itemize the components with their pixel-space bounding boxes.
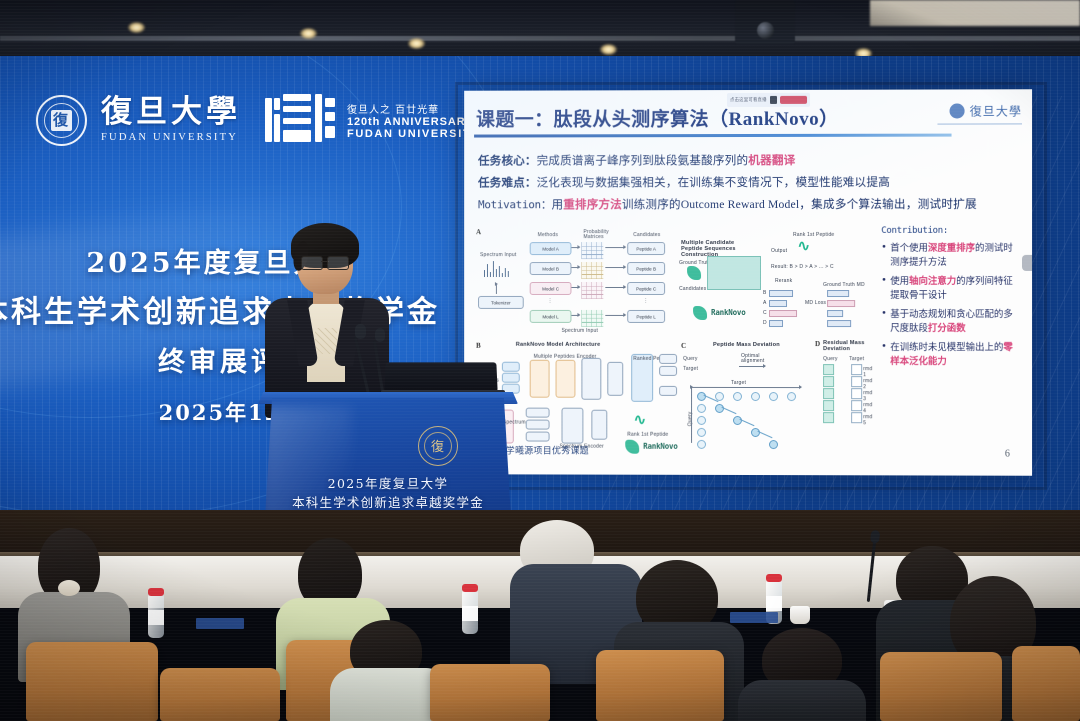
md-bar (769, 300, 787, 307)
body-tail-3: 训练测序的Outcome Reward Model，集成多个算法输出，测试时扩展 (622, 198, 977, 211)
body-label-2: 任务难点： (478, 175, 537, 189)
alignment-path-node (715, 404, 724, 413)
query-cell (823, 400, 834, 411)
node-peptide-b: Peptide B (627, 262, 665, 275)
chair-back (26, 642, 158, 721)
label-candidates-2: Candidates (679, 286, 706, 292)
hair-scrunchie (58, 580, 80, 596)
slide-title-prefix: 课题一： (476, 108, 554, 130)
figure-panel-c-letter: C (681, 342, 686, 350)
spectrum-plot-icon (482, 260, 512, 277)
query-cell (823, 388, 834, 399)
alignment-path-node (751, 428, 760, 437)
downlight (408, 38, 425, 49)
label-query-c: Query (683, 356, 698, 362)
peptides-ellipsis: ⋮ (643, 298, 648, 304)
title-underline (474, 134, 951, 138)
podium-fudan-seal-icon (418, 426, 458, 466)
md-bar (769, 320, 783, 327)
rmd-tick: rmd 1 (863, 366, 875, 378)
contrib-hl: 轴向注意力 (909, 276, 956, 287)
label-rerank: Rerank (775, 278, 792, 284)
slide-logo-rule (937, 123, 1022, 124)
query-cell (823, 364, 834, 375)
spec-row (526, 432, 550, 442)
label-target-axis: Target (731, 380, 746, 386)
label-query-d: Query (823, 356, 838, 362)
anniversary-lockup: 復旦人之 百廿光華 120th ANNIVERSARY FUDAN UNIVER… (265, 94, 480, 146)
slide-scroll-tab[interactable] (1022, 255, 1032, 271)
downlight (128, 22, 145, 33)
slide-body-line-3: Motivation：用重排序方法训练测序的Outcome Reward Mod… (478, 196, 977, 213)
label-spectrum: Spectrum (503, 420, 526, 426)
slide-figure: A Spectrum Input Tokenizer Methods Proba… (476, 230, 875, 448)
alignment-node (697, 440, 706, 449)
target-cell (851, 388, 862, 399)
slide-page-number: 6 (1005, 449, 1010, 460)
slide-logo-text: 復旦大學 (970, 102, 1022, 119)
livestream-icon (770, 96, 777, 104)
alignment-node (787, 392, 796, 401)
label-md-loss: MD Loss (805, 300, 826, 306)
conference-photo-scene: 復旦大學 FUDAN UNIVERSITY (0, 0, 1080, 721)
panel-b-title: RankNovo Model Architecture (516, 342, 601, 348)
attention-block (581, 358, 601, 400)
label-target-d: Target (849, 356, 864, 362)
mic-head (355, 324, 366, 339)
rank-row-c: C (763, 310, 767, 316)
paper-cup (790, 606, 810, 624)
fusion-block (607, 362, 623, 396)
contribution-item: 使用轴向注意力的序列间特征提取骨干设计 (881, 275, 1022, 302)
seal-core (51, 110, 72, 131)
node-peptide-c: Peptide C (627, 282, 665, 295)
label-methods: Methods (538, 232, 558, 238)
gt-md-bar (827, 300, 855, 307)
body-text-1: 完成质谱离子峰序列到肽段氨基酸序列的 (537, 153, 749, 167)
anniversary-en-1: 120th ANNIVERSARY (347, 116, 480, 128)
node-model-c: Model C (530, 282, 572, 295)
fudan-seal-icon (36, 95, 87, 146)
body-text-2: 泛化表现与数据集强相关，在训练集不变情况下，模型性能难以提高 (537, 175, 890, 189)
label-rank-first-b: Rank 1st Peptide (627, 432, 668, 438)
label-output: Output (771, 248, 787, 254)
slide-seal-icon (950, 103, 965, 118)
slide-title: 课题一：肽段从头测序算法（RankNovo） (476, 104, 839, 132)
audience-member (738, 628, 866, 721)
alignment-path-node (769, 440, 778, 449)
gt-md-bar (827, 310, 843, 317)
query-cell (823, 412, 834, 423)
ranknovo-brand-text: RankNovo (711, 308, 746, 317)
contribution-heading: Contribution: (881, 226, 1022, 236)
spectrum-encoder-block (562, 408, 584, 444)
rank-out-row (659, 386, 677, 396)
prob-matrix-c (581, 282, 603, 299)
alignment-node (697, 392, 706, 401)
md-bar (769, 290, 793, 297)
panel-c-title: Peptide Mass Deviation (713, 342, 780, 348)
contrib-hl: 深度重排序 (928, 243, 975, 254)
target-cell (851, 412, 862, 423)
target-cell (851, 376, 862, 387)
fudan-name-en: FUDAN UNIVERSITY (101, 132, 241, 143)
slide-title-paren: （RankNovo） (709, 109, 839, 130)
contrib-pre: 首个使用 (890, 243, 928, 254)
table-nameplate (196, 618, 244, 629)
target-cell (851, 400, 862, 411)
chair-back (1012, 646, 1080, 721)
figure-panel-a-letter: A (476, 228, 481, 236)
ranknovo-brand-text-b: RankNovo (643, 442, 677, 451)
peptide-squiggle-icon: ∿ (797, 236, 810, 255)
alignment-node (769, 392, 778, 401)
audience-torso (738, 680, 866, 721)
label-result: Result: B > D > A > ... > C (771, 264, 834, 270)
label-optimal-alignment: Optimal alignment (741, 354, 767, 364)
soffit-metal-trim (0, 36, 1080, 41)
contribution-item: 在训练时未见模型输出上的零样本泛化能力 (881, 341, 1022, 368)
body-highlight-1: 机器翻译 (748, 153, 795, 167)
downlight (600, 44, 617, 55)
label-probability-matrices: Probability Matrices (583, 230, 613, 239)
rmd-tick: rmd 2 (863, 378, 875, 390)
ranknovo-logo-icon (693, 306, 707, 320)
alignment-path-node (733, 416, 742, 425)
body-label-3: Motivation： (478, 198, 551, 211)
fudan-wordmark: 復旦大學 FUDAN UNIVERSITY (101, 97, 241, 143)
ceiling-projector (735, 0, 795, 44)
chair-back (160, 668, 280, 721)
contrib-pre: 在训练时未见模型输出上的 (890, 342, 1003, 353)
target-cell (851, 364, 862, 375)
livestream-badge-text: 点击这里可看直播 (730, 97, 767, 103)
encoder-block-2 (556, 360, 576, 398)
chair-back (880, 652, 1002, 721)
models-ellipsis: ⋮ (548, 298, 553, 304)
chair-back (430, 664, 550, 721)
rank-row-a: A (763, 300, 767, 306)
rmd-tick: rmd 5 (863, 414, 875, 426)
anniversary-text: 復旦人之 百廿光華 120th ANNIVERSARY FUDAN UNIVER… (347, 101, 480, 140)
alignment-node (697, 416, 706, 425)
prob-matrix-b (581, 262, 603, 279)
rank-row-d: D (763, 320, 767, 326)
spec-row (526, 420, 550, 430)
contrib-hl: 打分函数 (928, 323, 966, 334)
encoder-block-1 (530, 360, 550, 398)
ceiling-panel-light (870, 0, 1080, 26)
label-ground-truth-md: Ground Truth MD (823, 282, 865, 288)
alignment-node (697, 404, 706, 413)
md-bar (769, 310, 797, 317)
prob-matrix-a (581, 242, 603, 259)
water-bottle (462, 590, 478, 634)
livestream-overlay-badge[interactable]: 点击这里可看直播 (727, 93, 810, 107)
ranknovo-logo-icon (687, 266, 701, 280)
rmd-tick: rmd 4 (863, 402, 875, 414)
node-model-b: Model B (530, 262, 572, 275)
gt-md-bar (827, 320, 851, 327)
panel-d-title: Residual Mass Deviation (823, 340, 875, 352)
slide-fudan-logo: 復旦大學 (950, 102, 1022, 119)
alignment-node (733, 392, 742, 401)
contribution-list: 首个使用深度重排序的测试时测序提升方法 使用轴向注意力的序列间特征提取骨干设计 … (881, 242, 1022, 368)
downlight (300, 28, 317, 39)
slide-body-line-2: 任务难点：泛化表现与数据集强相关，在训练集不变情况下，模型性能难以提高 (478, 174, 890, 191)
contribution-item: 首个使用深度重排序的测试时测序提升方法 (881, 242, 1022, 269)
spec-row (526, 408, 550, 418)
pep-input-row (502, 373, 520, 383)
pep-input-row (502, 362, 520, 372)
figure-panel-d-letter: D (815, 340, 820, 348)
node-peptide-a: Peptide A (627, 242, 665, 255)
label-candidates: Candidates (633, 232, 660, 238)
slide-body-line-1: 任务核心：完成质谱离子峰序列到肽段氨基酸序列的机器翻译 (478, 152, 795, 169)
alignment-node (697, 428, 706, 437)
alignment-node (751, 392, 760, 401)
rmd-tick: rmd 3 (863, 390, 875, 402)
slide-title-main: 肽段从头测序算法 (554, 108, 709, 130)
anniversary-en-2: FUDAN UNIVERSITY (347, 128, 480, 140)
mic-head (375, 328, 385, 342)
contrib-pre: 使用 (890, 276, 909, 287)
body-highlight-3: 重排序方法 (563, 197, 622, 211)
anniversary-mark-icon (265, 94, 337, 146)
body-text-3: 用 (551, 197, 563, 211)
node-tokenizer: Tokenizer (478, 296, 524, 309)
laptop-screen (384, 362, 497, 392)
prob-matrix-l (581, 310, 603, 327)
chair-back (596, 650, 724, 721)
rank-row-b: B (763, 290, 767, 296)
construction-matrix (707, 256, 761, 290)
body-label-1: 任务核心： (478, 153, 537, 167)
label-target-c: Target (683, 366, 698, 372)
spectrum-proj-block (591, 410, 607, 440)
projected-slide: 课题一：肽段从头测序算法（RankNovo） 復旦大學 点击这里可看直播 任务核… (464, 89, 1032, 476)
speaker-glasses-icon (301, 256, 349, 268)
slide-contribution-block: Contribution: 首个使用深度重排序的测试时测序提升方法 使用轴向注意… (881, 226, 1022, 369)
water-bottle (148, 594, 164, 638)
ranknovo-logo-icon (625, 440, 639, 454)
rank-first-squiggle-icon: ∿ (633, 410, 646, 429)
backdrop-branding: 復旦大學 FUDAN UNIVERSITY (36, 94, 480, 146)
rank-out-row (659, 354, 677, 364)
livestream-status-pill (780, 96, 807, 104)
fudan-name-cn: 復旦大學 (101, 97, 241, 128)
node-peptide-l: Peptide L (627, 310, 665, 323)
query-cell (823, 376, 834, 387)
label-spectrum-input: Spectrum Input (480, 252, 516, 258)
figure-panel-b-letter: B (476, 342, 481, 350)
gt-md-bar (827, 290, 849, 297)
contribution-item: 基于动态规划和贪心匹配的多尺度肽段打分函数 (881, 308, 1022, 335)
rank-out-row (659, 366, 677, 376)
podium-line-1: 2025年度复旦大学 (262, 474, 514, 493)
node-model-a: Model A (530, 242, 572, 255)
slide-content: 课题一：肽段从头测序算法（RankNovo） 復旦大學 点击这里可看直播 任务核… (464, 89, 1032, 476)
node-model-l: Model L (530, 310, 572, 323)
anniversary-cn: 復旦人之 百廿光華 (347, 101, 480, 116)
label-spectrum-input-2: Spectrum Input (562, 328, 599, 334)
